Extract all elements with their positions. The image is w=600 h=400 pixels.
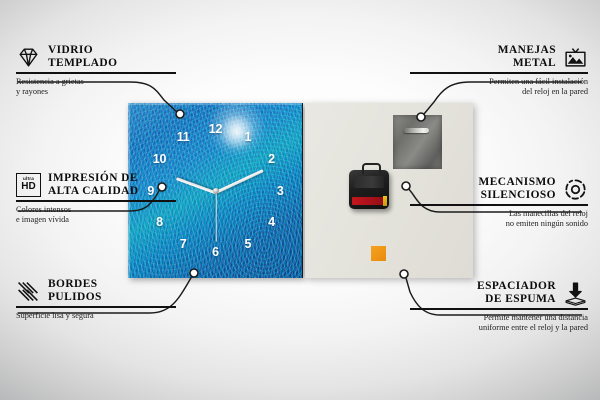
mechanism-body-detail — [354, 176, 384, 188]
polished-edges-icon — [16, 279, 41, 304]
callout-subtitle: Resistencia a grietas y rayones — [16, 77, 176, 98]
clock-numeral: 6 — [212, 246, 219, 259]
clock-numeral: 11 — [177, 131, 190, 144]
clock-mechanism — [349, 170, 389, 209]
mechanism-hanging-loop — [362, 163, 381, 174]
callout-title: BORDES PULIDOS — [48, 278, 102, 304]
callout-mecanismo-silencioso[interactable]: MECANISMO SILENCIOSO Las man — [410, 176, 588, 230]
callout-header: BORDES PULIDOS — [16, 278, 176, 304]
callout-impresion-alta-calidad[interactable]: ultra HD IMPRESIÓN DE ALTA CALIDAD Color… — [16, 172, 176, 226]
callout-title: ESPACIADOR DE ESPUMA — [477, 280, 556, 306]
foam-spacer-pad — [371, 246, 386, 261]
clock-numeral: 1 — [244, 131, 251, 144]
clock-numeral: 3 — [277, 184, 284, 197]
callout-subtitle: Permite mantener una distancia uniforme … — [410, 313, 588, 334]
callout-bordes-pulidos[interactable]: BORDES PULIDOS Superficie lisa y segura — [16, 278, 176, 321]
callout-espaciador-de-espuma[interactable]: ESPACIADOR DE ESPUMA Permite mantener un… — [410, 280, 588, 334]
clock-numeral: 2 — [268, 153, 275, 166]
callout-subtitle: Permiten una fácil instalación del reloj… — [410, 77, 588, 98]
callout-manejas-metal[interactable]: MANEJAS METAL Permiten una fácil instala… — [410, 44, 588, 98]
callout-divider — [16, 72, 176, 73]
callout-header: MANEJAS METAL — [410, 44, 588, 70]
clock-numeral: 7 — [180, 238, 187, 251]
clock-numeral: 4 — [268, 216, 275, 229]
infographic-canvas: 12 1 2 3 4 5 6 7 8 9 10 11 — [0, 0, 600, 400]
callout-header: MECANISMO SILENCIOSO — [410, 176, 588, 202]
callout-subtitle: Superficie lisa y segura — [16, 311, 176, 321]
diamond-icon — [16, 45, 41, 70]
callout-title: VIDRIO TEMPLADO — [48, 44, 117, 70]
callout-title: MECANISMO SILENCIOSO — [479, 176, 556, 202]
callout-divider — [410, 308, 588, 309]
callout-divider — [16, 200, 176, 201]
ultra-hd-large-label: HD — [21, 182, 35, 192]
callout-subtitle: Colores intensos e imagen vívida — [16, 205, 176, 226]
callout-divider — [410, 72, 588, 73]
gear-icon — [563, 177, 588, 202]
metal-hanger-plate — [393, 115, 442, 169]
callout-vidrio-templado[interactable]: VIDRIO TEMPLADO Resistencia a grietas y … — [16, 44, 176, 98]
ultra-hd-icon: ultra HD — [16, 173, 41, 198]
callout-header: ESPACIADOR DE ESPUMA — [410, 280, 588, 306]
callout-divider — [16, 306, 176, 307]
callout-title: IMPRESIÓN DE ALTA CALIDAD — [48, 172, 139, 198]
callout-subtitle: Las manecillas del reloj no emiten ningú… — [410, 209, 588, 230]
picture-hanger-icon — [563, 45, 588, 70]
second-hand — [215, 191, 216, 241]
clock-center-cap — [213, 188, 219, 194]
callout-header: VIDRIO TEMPLADO — [16, 44, 176, 70]
foam-spacer-arrow-icon — [563, 281, 588, 306]
battery-contact-tip — [383, 196, 387, 206]
battery-compartment-label — [352, 197, 386, 205]
callout-header: ultra HD IMPRESIÓN DE ALTA CALIDAD — [16, 172, 176, 198]
callout-divider — [410, 204, 588, 205]
clock-numeral: 10 — [153, 153, 167, 166]
hanger-keyhole-slot — [403, 128, 429, 133]
clock-numeral: 5 — [244, 238, 251, 251]
clock-numeral: 12 — [209, 123, 223, 136]
callout-title: MANEJAS METAL — [498, 44, 556, 70]
